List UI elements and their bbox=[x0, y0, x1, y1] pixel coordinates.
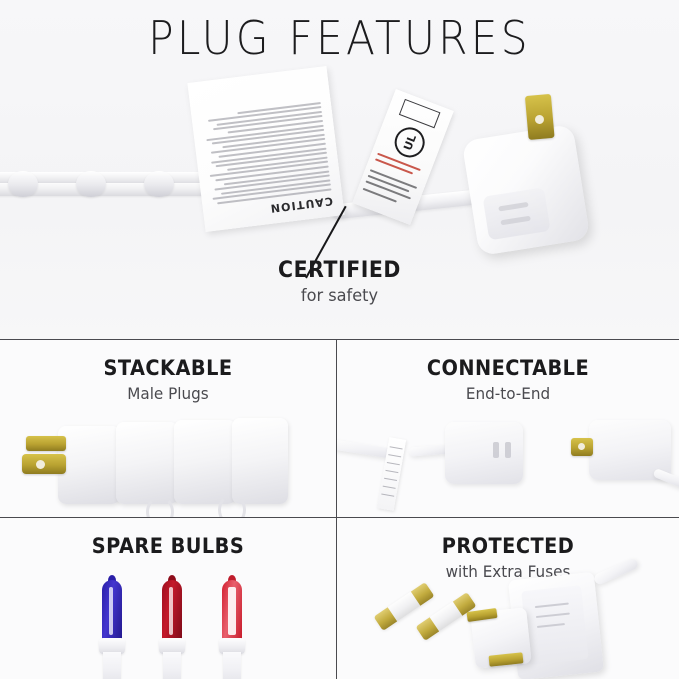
page-title: PLUG FEATURES bbox=[27, 14, 652, 62]
certified-subtext: for safety bbox=[17, 286, 662, 306]
plug-features-infographic: PLUG FEATURES CAUTION bbox=[0, 0, 679, 679]
feature-stackable-heading: STACKABLE bbox=[13, 356, 322, 380]
ul-tag-box bbox=[399, 99, 441, 128]
feature-spare-bulbs-heading: SPARE BULBS bbox=[13, 534, 322, 558]
wire-twist bbox=[8, 171, 38, 197]
stacked-plug bbox=[58, 426, 120, 504]
bulb-glass bbox=[162, 580, 182, 642]
feature-spare-bulbs: SPARE BULBS bbox=[0, 518, 336, 679]
ul-logo-icon: UL bbox=[390, 123, 429, 162]
hero-plug-face bbox=[483, 187, 551, 240]
bulb-light-red bbox=[219, 580, 245, 679]
feature-protected: PROTECTED with Extra Fuses bbox=[337, 518, 679, 679]
caution-tag-inner: CAUTION bbox=[187, 66, 344, 232]
bulb-blue bbox=[99, 580, 125, 679]
caution-tag: CAUTION bbox=[187, 66, 344, 232]
hero-panel: PLUG FEATURES CAUTION bbox=[0, 0, 679, 339]
bulb-base bbox=[223, 652, 241, 679]
wire-twist bbox=[76, 171, 106, 197]
feature-connectable-sub: End-to-End bbox=[346, 384, 671, 403]
caution-tag-word: CAUTION bbox=[213, 194, 334, 222]
fuse-access-door bbox=[521, 585, 588, 665]
bulb-base bbox=[103, 652, 121, 679]
bulb-dark-red bbox=[159, 580, 185, 679]
stacked-plug bbox=[116, 422, 178, 504]
plug-blade-gold bbox=[26, 436, 66, 451]
plug-blade-gold bbox=[571, 438, 593, 456]
female-socket bbox=[445, 422, 523, 484]
wire-twist bbox=[144, 171, 174, 197]
stacked-plug bbox=[232, 418, 288, 504]
feature-protected-heading: PROTECTED bbox=[351, 534, 666, 558]
feature-stackable: STACKABLE Male Plugs bbox=[0, 340, 336, 517]
bulb-glass bbox=[222, 580, 242, 642]
bulb-glass bbox=[102, 580, 122, 642]
plug-blade-gold bbox=[525, 94, 555, 140]
feature-stackable-sub: Male Plugs bbox=[8, 384, 327, 403]
certified-callout: CERTIFIED for safety bbox=[0, 258, 679, 306]
feature-connectable-heading: CONNECTABLE bbox=[351, 356, 666, 380]
hero-plug-body bbox=[462, 124, 591, 256]
feature-connectable: CONNECTABLE End-to-End bbox=[337, 340, 679, 517]
stacked-plug bbox=[174, 420, 236, 504]
bulb-base bbox=[163, 652, 181, 679]
certified-heading: CERTIFIED bbox=[24, 258, 655, 283]
plug-blade-gold bbox=[22, 454, 66, 474]
